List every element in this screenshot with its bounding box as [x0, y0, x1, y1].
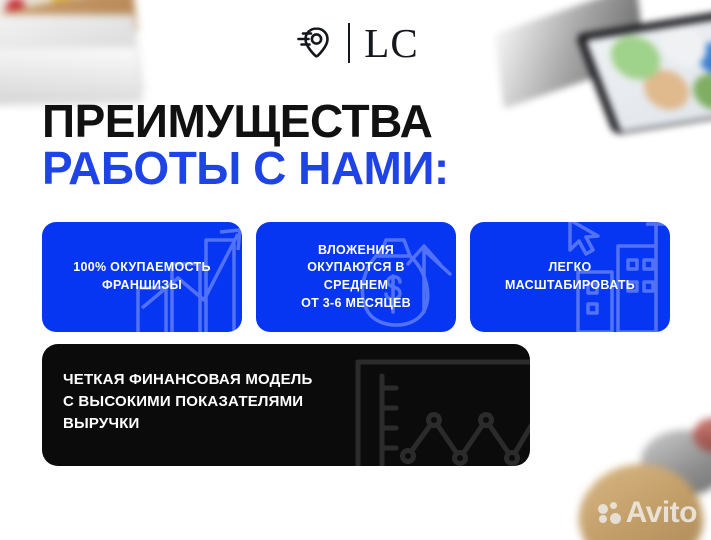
- benefit-card-label: ЛЕГКО МАСШТАБИРОВАТЬ: [497, 259, 643, 295]
- headline-line-1: ПРЕИМУЩЕСТВА: [42, 98, 662, 145]
- promo-poster: LC ПРЕИМУЩЕСТВА РАБОТЫ С НАМИ: 100% ОКУП…: [0, 0, 711, 540]
- avito-wordmark: Avito: [626, 498, 697, 528]
- brand-logo: LC: [0, 22, 711, 64]
- avito-dots-logo: [598, 502, 621, 525]
- benefit-card-term[interactable]: ВЛОЖЕНИЯ ОКУПАЮТСЯ В СРЕДНЕМ ОТ 3-6 МЕСЯ…: [256, 222, 456, 332]
- benefit-card-financial-model[interactable]: ЧЕТКАЯ ФИНАНСОВАЯ МОДЕЛЬ С ВЫСОКИМИ ПОКА…: [42, 344, 530, 466]
- avito-watermark: Avito: [598, 498, 697, 528]
- package-red-decor: [693, 418, 711, 452]
- logo-wordmark: LC: [364, 23, 418, 64]
- headline-line-2: РАБОТЫ С НАМИ:: [42, 145, 662, 192]
- page-title: ПРЕИМУЩЕСТВА РАБОТЫ С НАМИ:: [42, 98, 662, 193]
- benefit-card-label: 100% ОКУПАЕМОСТЬ ФРАНШИЗЫ: [65, 259, 219, 295]
- benefit-card-payback[interactable]: 100% ОКУПАЕМОСТЬ ФРАНШИЗЫ: [42, 222, 242, 332]
- location-pin-speed-icon: [292, 22, 334, 64]
- benefit-card-label: ВЛОЖЕНИЯ ОКУПАЮТСЯ В СРЕДНЕМ ОТ 3-6 МЕСЯ…: [293, 242, 419, 313]
- package-grey-decor: [641, 430, 711, 496]
- benefit-card-scalability[interactable]: ЛЕГКО МАСШТАБИРОВАТЬ: [470, 222, 670, 332]
- benefit-cards: 100% ОКУПАЕМОСТЬ ФРАНШИЗЫ ВЛОЖЕНИЯ ОКУПА…: [42, 222, 670, 332]
- logo-divider: [348, 23, 350, 63]
- package-base-decor: [579, 464, 703, 540]
- benefit-card-label: ЧЕТКАЯ ФИНАНСОВАЯ МОДЕЛЬ С ВЫСОКИМИ ПОКА…: [42, 344, 530, 435]
- package-photo: [575, 436, 711, 540]
